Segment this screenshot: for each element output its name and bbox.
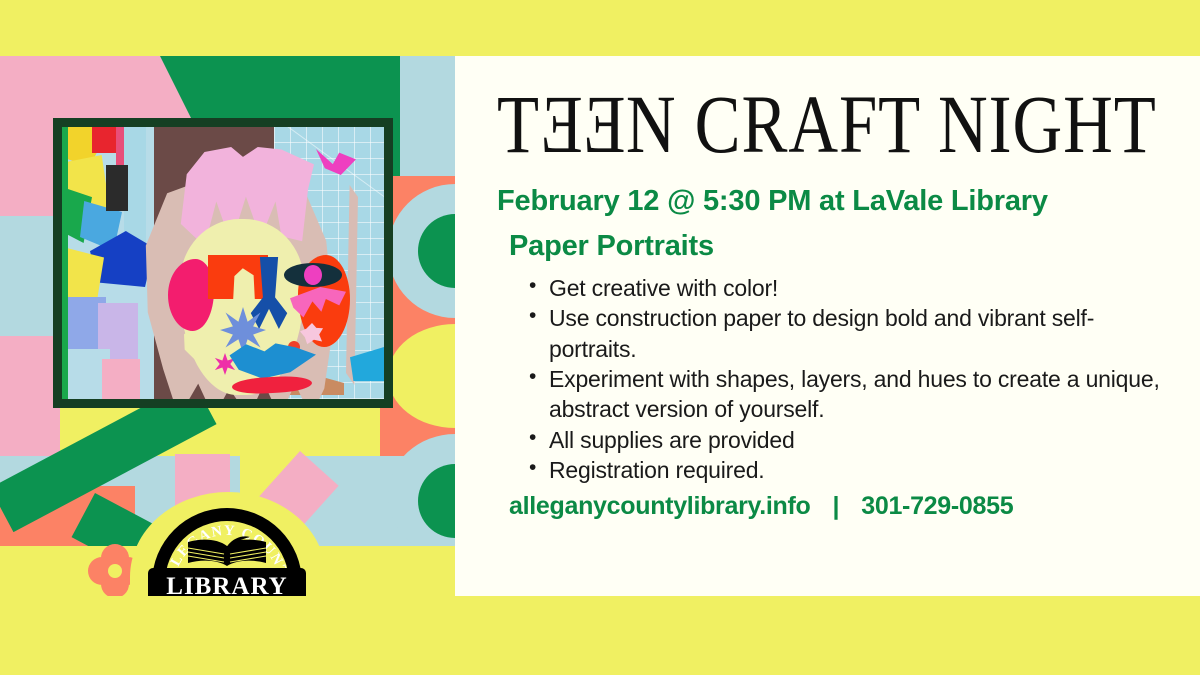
headline-e1: E: [540, 86, 583, 166]
artwork-photo: [62, 127, 384, 399]
headline-pre: T: [497, 79, 540, 171]
contact-row: alleganycountylibrary.info | 301-729-085…: [509, 492, 1160, 521]
event-details-list: Get creative with color! Use constructio…: [527, 273, 1160, 486]
logo-banner-text: LIBRARY: [166, 573, 287, 596]
artwork-panel: ALLEGANY COUNTY SYSTEM: [0, 56, 455, 596]
collage-cheek-magenta: [168, 259, 214, 331]
contact-separator: |: [833, 492, 840, 521]
flyer-inner: ALLEGANY COUNTY SYSTEM: [0, 56, 1200, 596]
list-item: Use construction paper to design bold an…: [527, 303, 1160, 364]
list-item: Registration required.: [527, 455, 1160, 485]
logo-banner: LIBRARY: [148, 568, 306, 596]
content-panel: TEEN CRAFT NIGHT February 12 @ 5:30 PM a…: [455, 56, 1200, 596]
headline-e2: E: [583, 86, 626, 166]
list-item: All supplies are provided: [527, 425, 1160, 455]
list-item: Get creative with color!: [527, 273, 1160, 303]
flyer-canvas: ALLEGANY COUNTY SYSTEM: [0, 0, 1200, 675]
phone-number[interactable]: 301-729-0855: [861, 492, 1013, 521]
website-link[interactable]: alleganycountylibrary.info: [509, 492, 811, 521]
photo-paper-scraps: [62, 127, 154, 399]
collage-star-blue: [220, 307, 266, 353]
artwork-photo-frame: [53, 118, 393, 408]
collage-pupil: [304, 265, 322, 285]
list-item: Experiment with shapes, layers, and hues…: [527, 364, 1160, 425]
headline-post: N CRAFT NIGHT: [626, 79, 1157, 171]
library-logo: ALLEGANY COUNTY SYSTEM: [152, 508, 302, 596]
event-subtitle: Paper Portraits: [509, 230, 1160, 263]
page-title: TEEN CRAFT NIGHT: [497, 86, 1114, 166]
event-dateline: February 12 @ 5:30 PM at LaVale Library: [497, 185, 1160, 218]
open-book-icon: [184, 536, 270, 568]
pattern-block-blue-top-right: [400, 56, 455, 176]
